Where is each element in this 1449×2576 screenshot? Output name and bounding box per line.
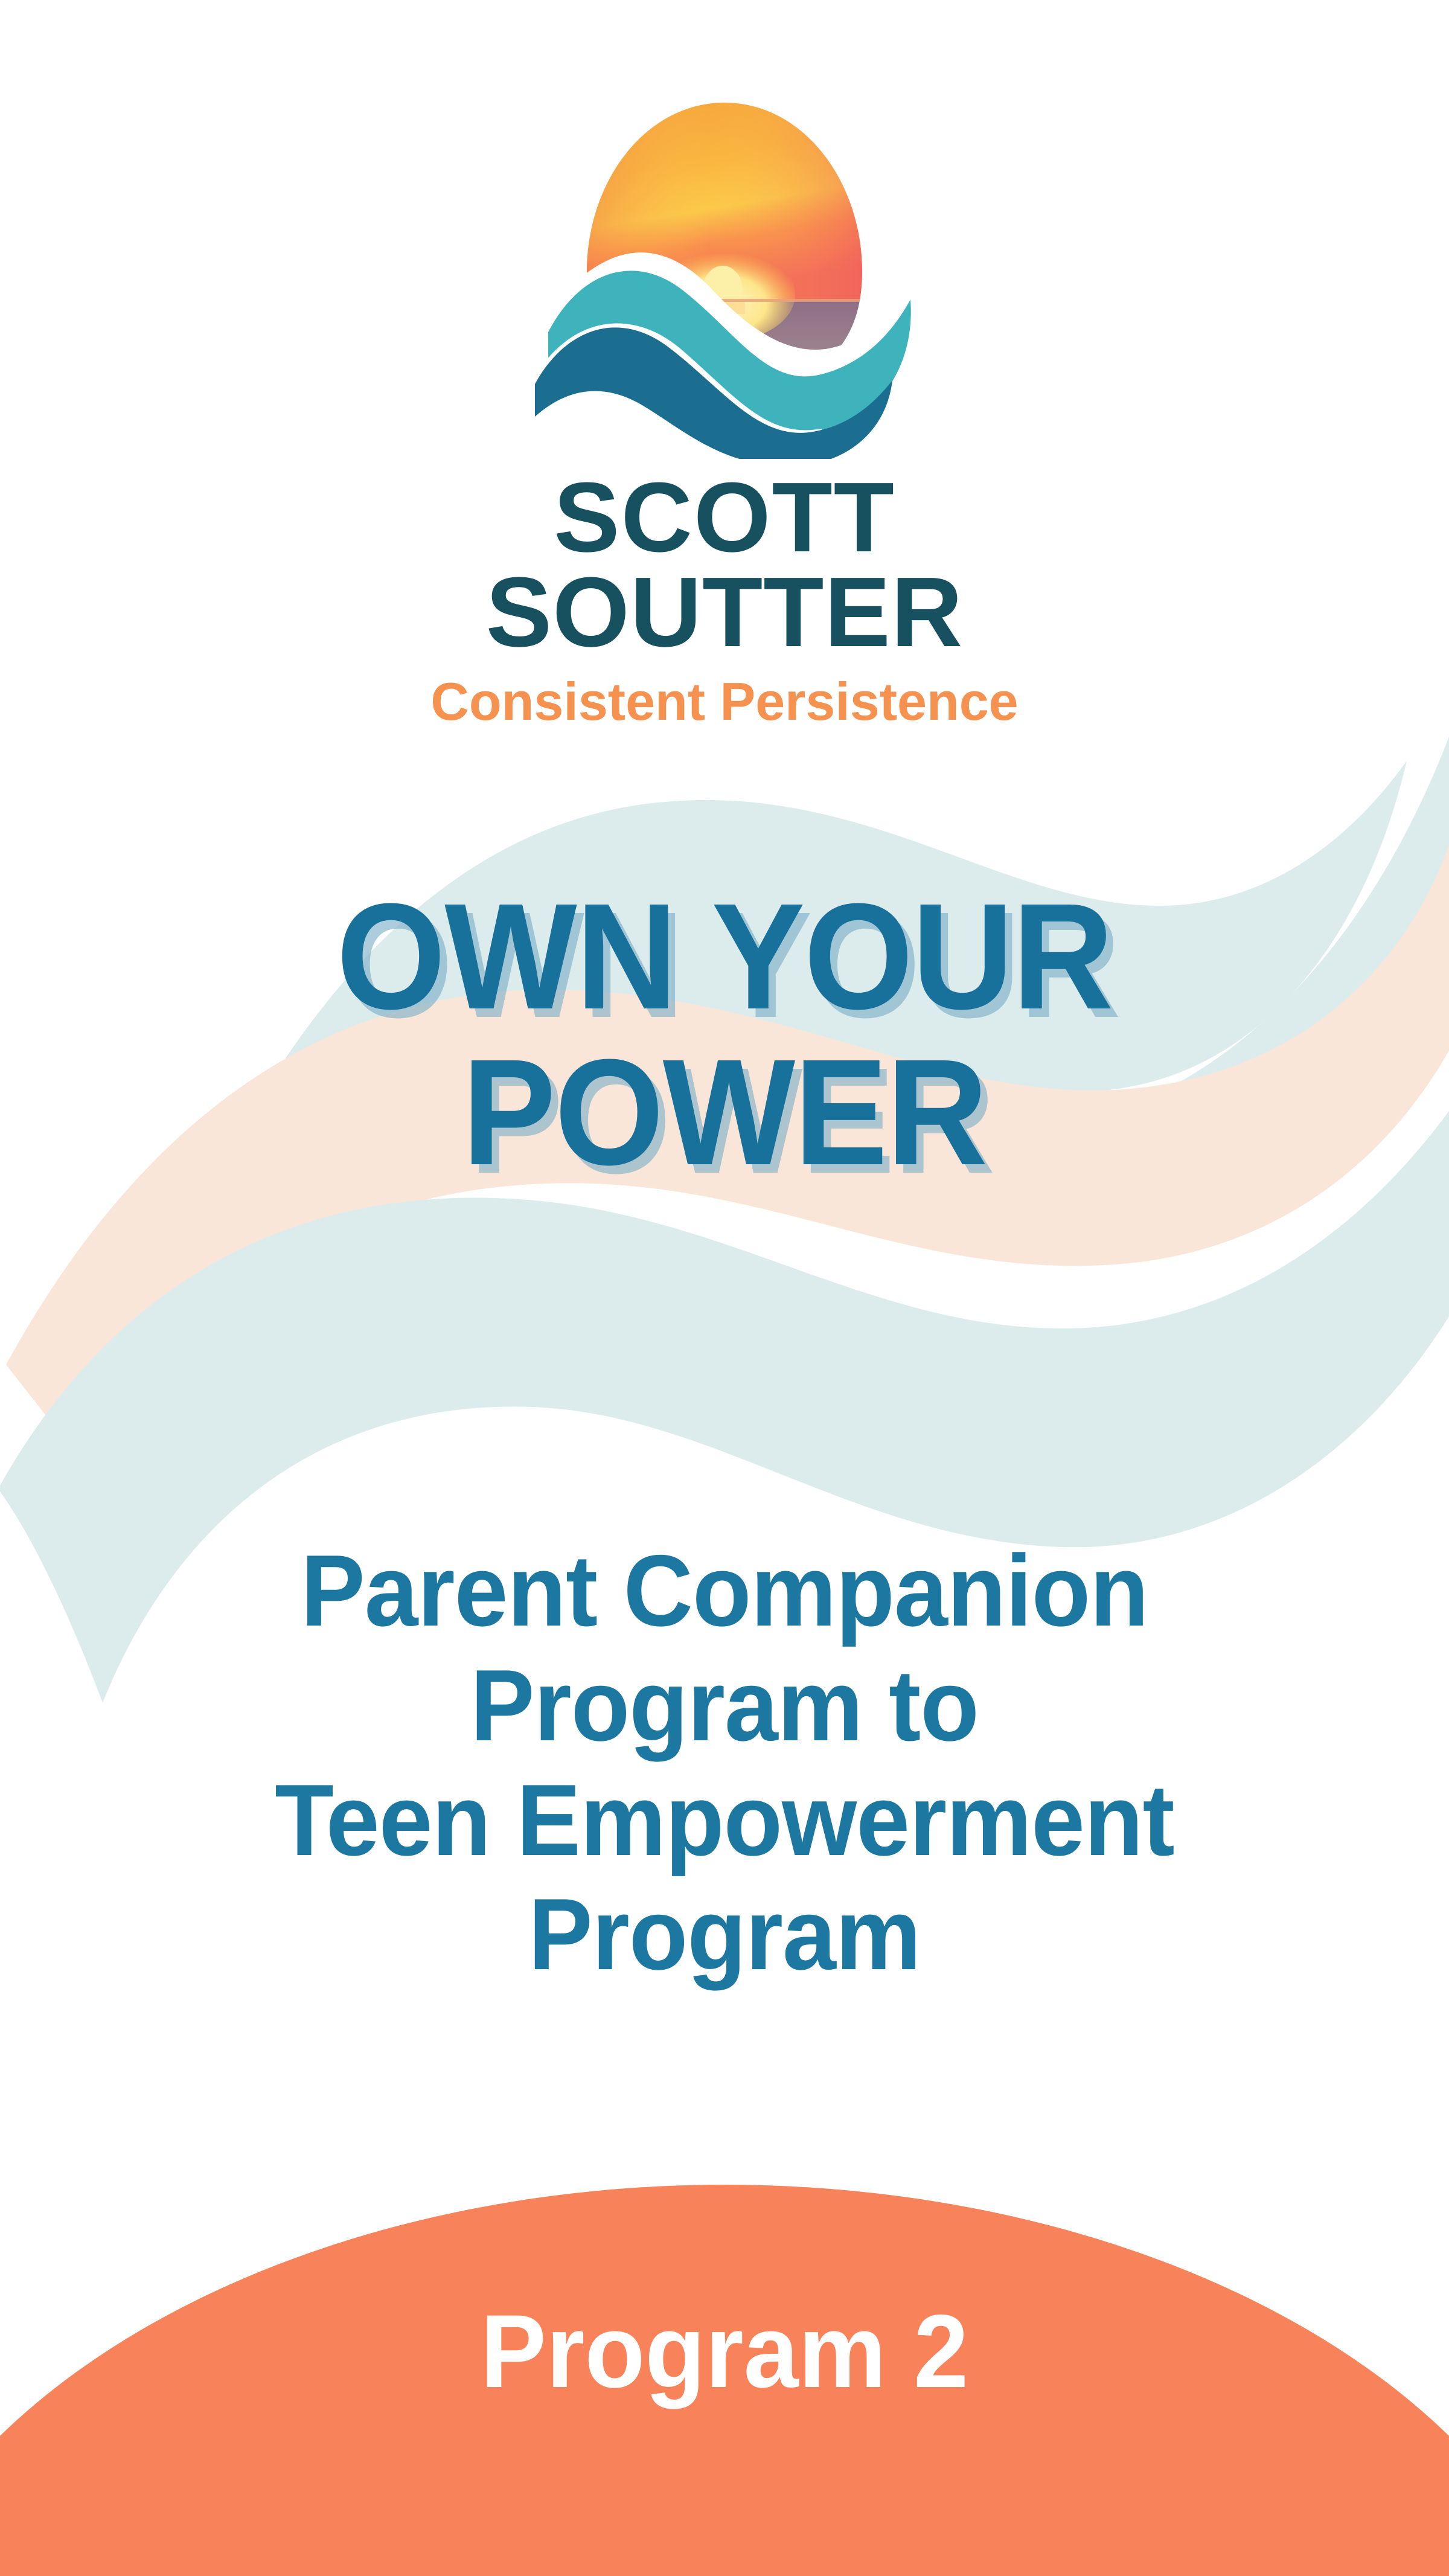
logo-tagline: Consistent Persistence [0,671,1449,732]
poster-canvas: SCOTT SOUTTER Consistent Persistence OWN… [0,0,1449,2576]
brand-logo: SCOTT SOUTTER Consistent Persistence [0,91,1449,732]
logo-wordmark: SCOTT SOUTTER [0,470,1449,660]
subtitle-line-2: Program to [36,1648,1413,1763]
page-title: OWN YOUR POWER [51,879,1398,1190]
headline-line-2: POWER [51,1034,1398,1190]
program-banner-label: Program 2 [36,2292,1413,2411]
logo-wordmark-line1: SCOTT [0,470,1449,565]
subtitle-line-4: Program [36,1877,1413,1992]
headline-line-1: OWN YOUR [51,879,1398,1034]
sunset-over-waves-logo-mark [483,91,966,459]
subtitle-line-1: Parent Companion [36,1534,1413,1648]
logo-wordmark-line2: SOUTTER [0,565,1449,659]
page-subtitle: Parent Companion Program to Teen Empower… [36,1534,1413,1992]
subtitle-line-3: Teen Empowerment [36,1763,1413,1878]
